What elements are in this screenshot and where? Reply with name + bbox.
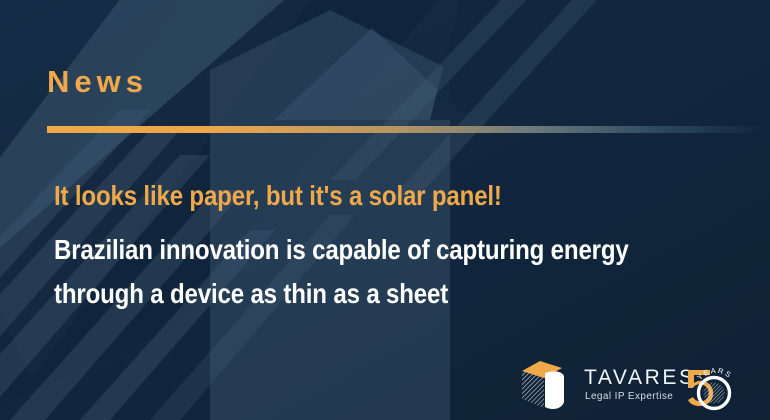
news-banner: News It looks like paper, but it's a sol… <box>0 0 770 420</box>
headline-text: It looks like paper, but it's a solar pa… <box>54 182 502 210</box>
cube-logo-icon <box>522 361 564 409</box>
brand-wordmark: TAVARES <box>584 366 696 389</box>
kicker-label: News <box>47 66 148 97</box>
subheadline-line-1: Brazilian innovation is capable of captu… <box>54 228 629 272</box>
brand-tagline: Legal IP Expertise <box>585 391 673 402</box>
anniversary-label: YEARS <box>695 366 734 382</box>
subheadline-line-2: through a device as thin as a sheet <box>54 272 629 316</box>
banner-content: News It looks like paper, but it's a sol… <box>0 0 770 420</box>
brand-logo-lockup: TAVARES Legal IP Expertise YEARS <box>512 358 740 414</box>
accent-rule-divider <box>47 126 763 133</box>
subheadline-block: Brazilian innovation is capable of captu… <box>54 228 629 316</box>
